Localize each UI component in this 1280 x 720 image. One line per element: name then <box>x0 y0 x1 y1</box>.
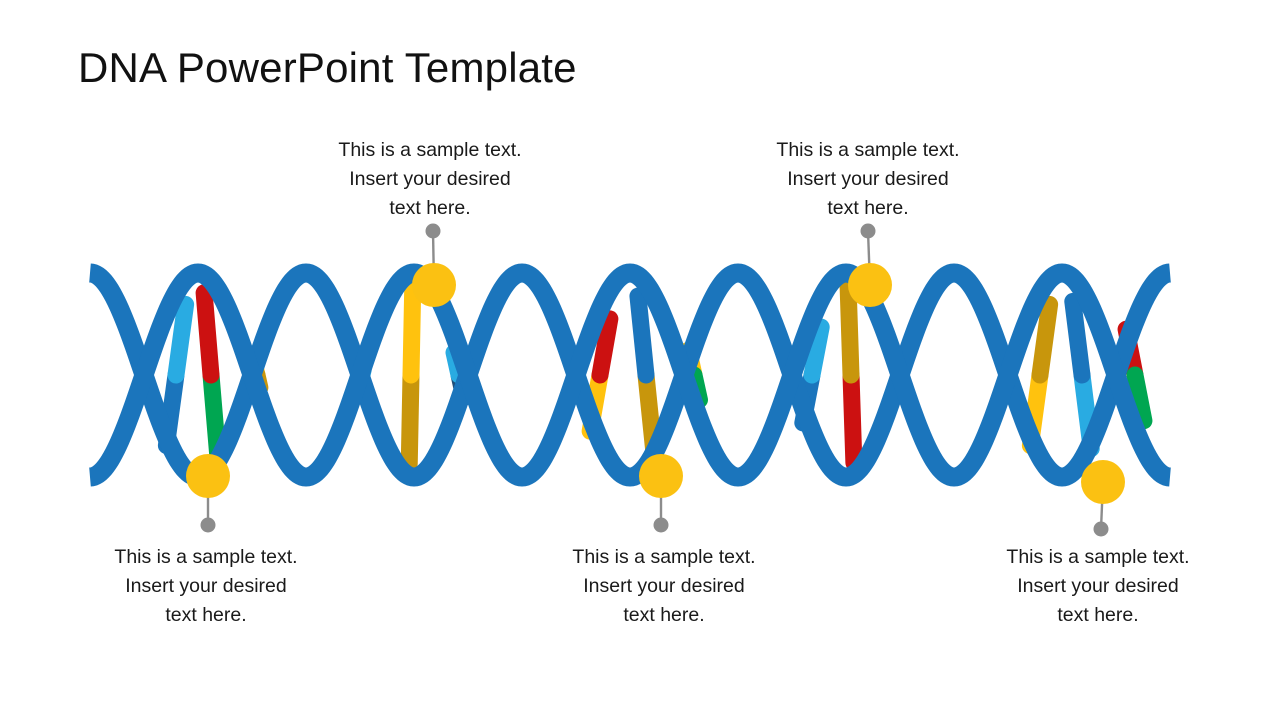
helix-node-marker[interactable] <box>1081 460 1125 504</box>
callout-bottom-3: This is a sample text. Insert your desir… <box>978 543 1218 630</box>
callout-line: This is a sample text. <box>544 543 784 572</box>
base-segment-bottom <box>848 287 851 375</box>
base-segment-bottom <box>1040 304 1050 375</box>
callout-line: This is a sample text. <box>978 543 1218 572</box>
connector-dot[interactable] <box>201 518 216 533</box>
callout-line: Insert your desired <box>310 165 550 194</box>
callout-line: Insert your desired <box>978 572 1218 601</box>
callout-top-1: This is a sample text. Insert your desir… <box>310 136 550 223</box>
connector-dot[interactable] <box>1094 522 1109 537</box>
callout-line: text here. <box>544 601 784 630</box>
helix-node-marker[interactable] <box>186 454 230 498</box>
base-segment-bottom <box>638 296 646 375</box>
connector-dot[interactable] <box>654 518 669 533</box>
callout-line: text here. <box>310 194 550 223</box>
helix-node-marker[interactable] <box>848 263 892 307</box>
helix-strand-front <box>90 273 1170 477</box>
base-pair <box>204 293 218 457</box>
callout-line: text here. <box>86 601 326 630</box>
base-segment-bottom <box>411 287 413 375</box>
base-segment-bottom <box>204 293 211 375</box>
callout-line: This is a sample text. <box>310 136 550 165</box>
base-pair <box>848 287 854 463</box>
callout-bottom-3-connector <box>1081 460 1125 537</box>
slide-canvas: DNA PowerPoint Template This is a sample… <box>0 0 1280 720</box>
callout-line: This is a sample text. <box>748 136 988 165</box>
connector-dot[interactable] <box>426 224 441 239</box>
base-segment-top <box>851 375 854 463</box>
connector-dot[interactable] <box>861 224 876 239</box>
callout-line: Insert your desired <box>86 572 326 601</box>
dna-strands <box>90 273 1170 477</box>
callout-line: text here. <box>748 194 988 223</box>
callout-line: text here. <box>978 601 1218 630</box>
callout-bottom-2: This is a sample text. Insert your desir… <box>544 543 784 630</box>
callout-top-2-connector <box>848 224 892 308</box>
callout-top-2: This is a sample text. Insert your desir… <box>748 136 988 223</box>
callout-line: Insert your desired <box>748 165 988 194</box>
helix-node-marker[interactable] <box>412 263 456 307</box>
base-pair <box>638 296 654 454</box>
callout-bottom-1: This is a sample text. Insert your desir… <box>86 543 326 630</box>
callout-line: Insert your desired <box>544 572 784 601</box>
dna-callout-connectors <box>186 224 1125 537</box>
callout-bottom-2-connector <box>639 454 683 533</box>
callout-bottom-1-connector <box>186 454 230 533</box>
base-segment-bottom <box>176 304 186 375</box>
helix-node-marker[interactable] <box>639 454 683 498</box>
base-segment-top <box>409 375 411 463</box>
base-pair <box>409 287 412 464</box>
base-segment-bottom <box>1073 301 1082 375</box>
callout-line: This is a sample text. <box>86 543 326 572</box>
